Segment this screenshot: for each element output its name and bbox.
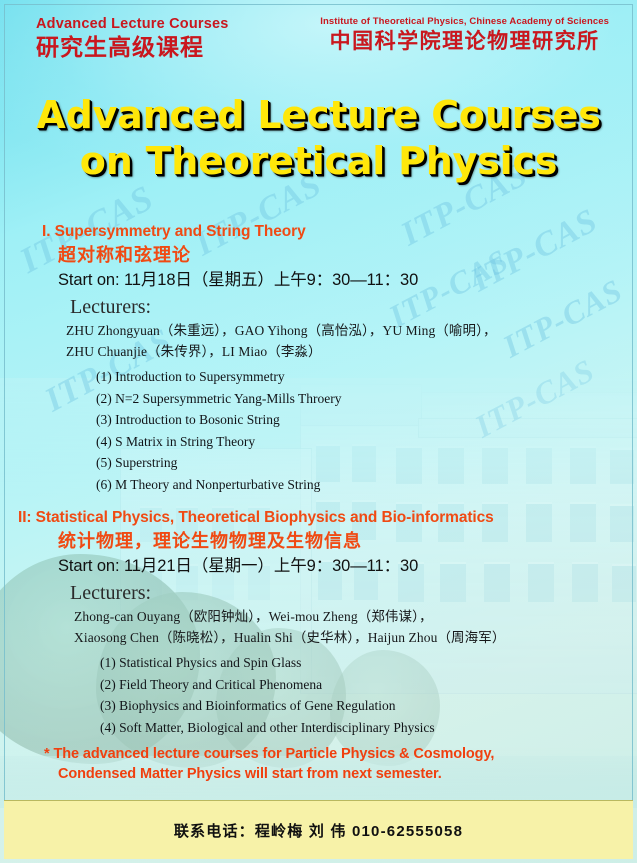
institute-name-chinese: 中国科学院理论物理研究所 [320, 29, 609, 54]
course-item: (1) Statistical Physics and Spin Glass [100, 652, 637, 674]
header-left-chinese: 研究生高级课程 [36, 34, 229, 61]
footnote-upcoming-courses: * The advanced lecture courses for Parti… [44, 744, 617, 784]
course-item: (4) S Matrix in String Theory [96, 431, 637, 453]
section-2-start-date: Start on: 11月21日（星期一）上午9：30—11：30 [58, 555, 637, 578]
section-1-lecturers-line-1: ZHU Zhongyuan（朱重远），GAO Yihong（高怡泓），YU Mi… [66, 320, 637, 341]
section-2-heading-english: II: Statistical Physics, Theoretical Bio… [18, 508, 637, 528]
footnote-asterisk: * [44, 746, 50, 762]
section-supersymmetry-string-theory: I. Supersymmetry and String Theory 超对称和弦… [0, 222, 637, 495]
title-line-2: on Theoretical Physics [0, 138, 637, 184]
section-1-lecturers-label: Lecturers: [70, 295, 637, 320]
course-item: (3) Introduction to Bosonic String [96, 409, 637, 431]
poster-header: Advanced Lecture Courses 研究生高级课程 Institu… [0, 12, 637, 74]
section-2-lecturers-line-1: Zhong-can Ouyang（欧阳钟灿），Wei-mou Zheng（郑伟谋… [74, 606, 637, 627]
section-statistical-physics-biophysics: II: Statistical Physics, Theoretical Bio… [0, 508, 637, 738]
course-item: (3) Biophysics and Bioinformatics of Gen… [100, 695, 637, 717]
section-2-heading-chinese: 统计物理，理论生物物理及生物信息 [58, 529, 637, 553]
course-item: (1) Introduction to Supersymmetry [96, 366, 637, 388]
footnote-line-2: Condensed Matter Physics will start from… [58, 764, 617, 784]
contact-footer: 联系电话：程岭梅 刘 伟 010-62555058 [4, 800, 633, 859]
title-line-1: Advanced Lecture Courses [36, 93, 600, 137]
course-item: (6) M Theory and Nonperturbative String [96, 474, 637, 496]
contact-info: 联系电话：程岭梅 刘 伟 010-62555058 [174, 820, 463, 841]
course-item: (5) Superstring [96, 452, 637, 474]
section-2-lecturers-line-2: Xiaosong Chen（陈晓松），Hualin Shi（史华林），Haiju… [74, 627, 637, 648]
footnote-line-1: The advanced lecture courses for Particl… [53, 746, 494, 762]
section-2-course-list: (1) Statistical Physics and Spin Glass (… [100, 652, 637, 738]
poster: ITP-CAS ITP-CAS ITP-CAS ITP-CAS ITP-CAS … [0, 0, 637, 863]
poster-title: Advanced Lecture Courses on Theoretical … [0, 92, 637, 184]
header-left-block: Advanced Lecture Courses 研究生高级课程 [36, 16, 229, 61]
course-item: (2) N=2 Supersymmetric Yang-Mills Throer… [96, 388, 637, 410]
course-item: (2) Field Theory and Critical Phenomena [100, 674, 637, 696]
header-left-english: Advanced Lecture Courses [36, 16, 229, 33]
course-item: (4) Soft Matter, Biological and other In… [100, 717, 637, 739]
header-right-block: Institute of Theoretical Physics, Chines… [320, 16, 609, 54]
section-2-lecturers-label: Lecturers: [70, 581, 637, 606]
section-1-lecturers-line-2: ZHU Chuanjie（朱传界），LI Miao（李淼） [66, 341, 637, 362]
section-1-course-list: (1) Introduction to Supersymmetry (2) N=… [96, 366, 637, 495]
section-1-heading-chinese: 超对称和弦理论 [58, 243, 637, 267]
institute-name-english: Institute of Theoretical Physics, Chines… [320, 16, 609, 28]
section-1-heading-english: I. Supersymmetry and String Theory [42, 222, 637, 242]
section-1-start-date: Start on: 11月18日（星期五）上午9：30—11：30 [58, 269, 637, 292]
